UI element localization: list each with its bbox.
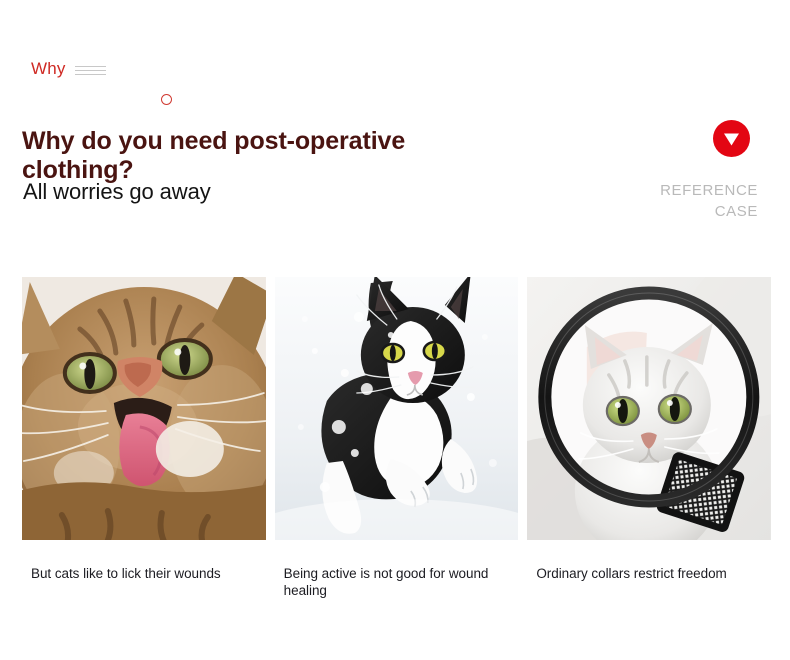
eyebrow-label: Why [31,58,66,79]
gallery-caption-3: Ordinary collars restrict freedom [527,565,771,599]
gallery-caption-2: Being active is not good for wound heali… [275,565,519,599]
circle-outline-icon [161,94,172,105]
gallery-captions: But cats like to lick their wounds Being… [22,565,771,599]
reference-line-2: CASE [558,201,758,222]
gallery-image-1[interactable] [22,277,266,540]
reference-case-label: REFERENCE CASE [558,180,758,222]
section-subhead: All worries go away [23,178,211,205]
page-title: Why do you need post-operative clothing? [22,127,452,185]
gallery-caption-1: But cats like to lick their wounds [22,565,266,599]
gallery-image-3[interactable] [527,277,771,540]
triangle-down-icon [713,120,750,157]
triple-rule-icon [75,63,106,75]
section-eyebrow: Why [31,58,106,79]
reference-line-1: REFERENCE [558,180,758,201]
gallery-image-2[interactable] [275,277,519,540]
image-gallery [22,277,771,540]
